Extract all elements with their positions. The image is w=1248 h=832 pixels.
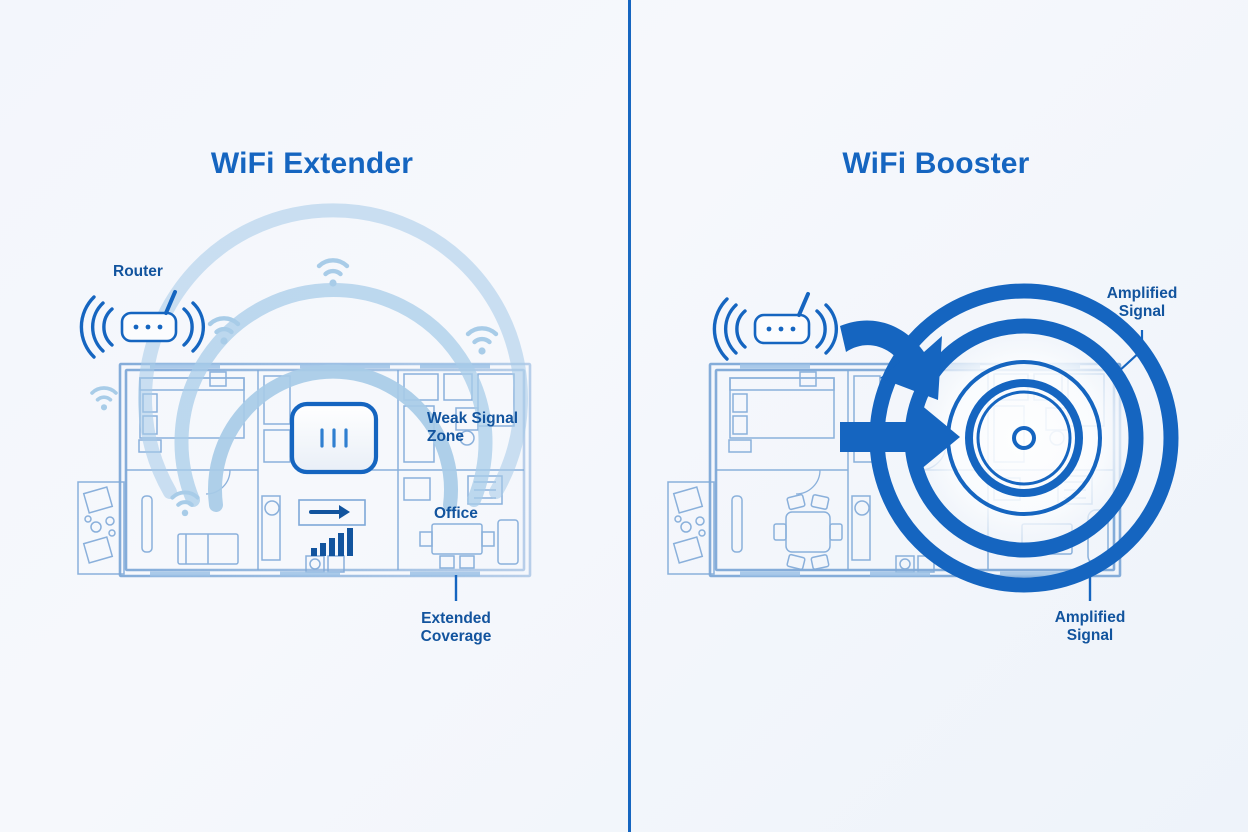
panel-wifi-extender: WiFi Extender [0, 0, 624, 832]
amplified-signal-label-top: Amplified Signal [1098, 285, 1186, 322]
extended-coverage-label: Extended Coverage [417, 610, 495, 647]
leader-lines-right [624, 0, 1248, 832]
panel-divider [628, 0, 631, 832]
leader-extended-coverage [0, 0, 624, 832]
infographic-canvas: WiFi Extender [0, 0, 1248, 832]
panel-wifi-booster: WiFi Booster [624, 0, 1248, 832]
amplified-signal-label-bottom: Amplified Signal [1046, 609, 1134, 646]
